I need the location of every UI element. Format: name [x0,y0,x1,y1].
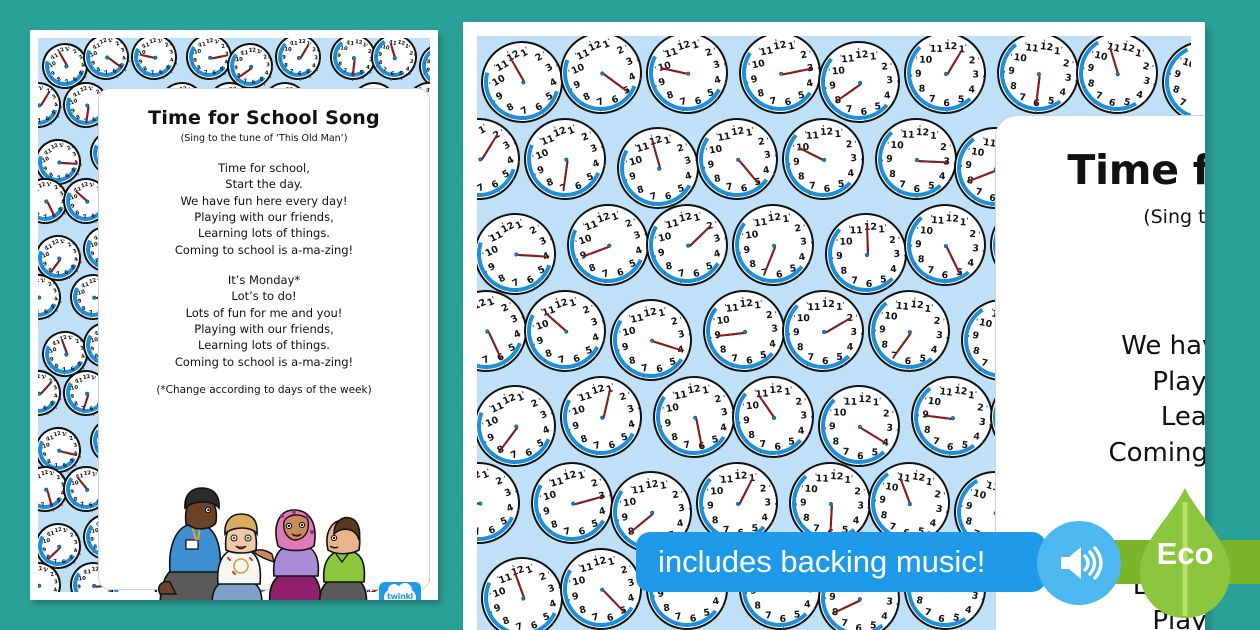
clock-numeral: 4 [541,425,551,436]
clock-tick [795,181,796,183]
clock-tick [76,122,78,124]
clock-numeral: 9 [43,453,48,459]
clock-numeral: 3 [936,331,943,341]
clock-tick [778,454,779,456]
clock-numeral: 1 [834,130,841,140]
clock-tick [80,553,81,555]
clock-numeral: 10 [884,311,898,322]
clock-numeral: 10 [236,58,244,64]
clock-tick [494,64,496,66]
clock-tick [546,448,548,450]
clock-numeral: 10 [571,405,586,418]
clock-numeral: 2 [757,137,765,147]
clock-numeral: 6 [913,185,920,195]
clock-numeral: 5 [958,95,965,105]
clock-tick [73,408,74,410]
clock-numeral: 8 [1171,84,1180,95]
clock-numeral: 8 [38,212,41,218]
clock-numeral: 3 [169,50,174,56]
clock-tick [618,106,620,108]
clock-tick [724,237,725,239]
clock-numeral: 7 [677,269,686,280]
clock-numeral: 10 [42,443,51,450]
clock-numeral: 3 [893,250,900,260]
clock-numeral: 10 [745,230,759,241]
clock-tick [897,429,898,431]
clock-numeral: 6 [775,270,783,280]
clock-tick [888,142,889,144]
clock-tick [76,293,77,295]
clock-tick [317,49,318,51]
clock-tick [568,70,570,72]
clock-tick [93,567,94,569]
clock-numeral: 9 [50,358,55,364]
clock-tick [686,194,688,196]
clock-tick [878,348,879,350]
clock-numeral: 10 [839,237,852,247]
clock-tick [500,129,502,131]
verse-two-small: It’s Monday*Lot’s to do!Lots of fun for … [99,272,429,370]
clock-numeral: 4 [762,165,770,175]
clock-numeral: 4 [53,589,58,592]
clock-face-icon: 123456789101112 [901,201,989,289]
clock-numeral: 1 [1134,49,1143,60]
clock-tick [50,76,52,78]
clock-numeral: 9 [657,248,666,259]
clock-numeral: 10 [978,318,993,330]
clock-numeral: 11 [665,219,680,231]
clock-numeral: 10 [484,245,500,259]
clock-numeral: 7 [104,71,110,77]
clock-tick [681,212,682,214]
clock-center-pin [865,253,869,257]
clock-numeral: 1 [754,301,762,311]
clock-tick [60,301,62,303]
clock-center-pin [85,199,90,204]
clock-numeral: 11 [241,52,249,58]
clock-numeral: 9 [77,300,82,306]
clock-numeral: 8 [917,255,924,265]
clock-numeral: 5 [759,351,767,361]
clock-hand [824,317,851,334]
clock-tick [712,183,713,185]
thumbnail-preview-page[interactable]: 1234567891011121234567891011121234567891… [30,30,438,600]
clock-numeral: 10 [70,195,79,202]
clock-tick [807,364,808,366]
clock-tick [543,51,545,53]
clock-tick [805,131,806,133]
clock-numeral: 6 [774,442,781,452]
clock-numeral: 7 [477,183,486,194]
clock-numeral: 3 [684,156,693,167]
clock-numeral: 4 [627,71,637,82]
clock-numeral: 8 [748,430,755,440]
clock-tick [911,75,912,77]
clock-tick [986,406,987,408]
clock-tick [486,270,488,272]
clock-numeral: 6 [212,71,217,77]
clock-tick [55,407,57,409]
clock-numeral: 11 [673,390,688,402]
clock-center-pin [57,544,62,549]
clock-tick [40,125,42,127]
clock-numeral: 7 [511,278,521,289]
clock-tick [727,194,728,196]
clock-numeral: 6 [664,192,673,203]
clock-numeral: 6 [88,504,92,510]
clock-tick [825,427,826,429]
clock-numeral: 11 [630,314,645,326]
clock-numeral: 1 [959,218,966,228]
clock-numeral: 2 [670,317,678,328]
clock-tick [492,296,494,298]
clock-tick [762,280,763,282]
clock-numeral: 5 [705,262,714,273]
clock-tick [652,204,654,206]
clock-center-pin [1115,72,1120,77]
clock-tick [1142,49,1143,51]
clock-face-icon: 123456789101112 [864,286,954,376]
clock-tick [939,354,940,356]
clock-numeral: 11 [578,391,593,404]
clock-tick [890,362,891,364]
clock-tick [619,331,620,333]
clock-hand [582,245,611,257]
clock-tick [77,271,79,273]
clock-hand [61,162,78,165]
clock-numeral: 5 [584,346,593,357]
clock-hand [860,427,887,444]
clock-tick [751,127,752,129]
clock-numeral: 10 [77,290,86,297]
clock-tick [626,179,628,181]
clock-tick [205,77,206,79]
clock-tick [517,160,519,162]
clock-tick [663,50,665,52]
clock-face-icon: 123456789101112 [602,291,700,389]
clock-center-pin [38,391,42,396]
clock-tick [626,160,628,162]
clock-numeral: 10 [284,48,291,53]
clock-numeral: 11 [1025,44,1039,55]
clock-tick [636,59,638,61]
clock-tick [625,45,627,47]
clock-tick [826,87,827,89]
clock-tick [630,442,632,444]
clock-numeral: 4 [548,77,558,88]
clock-numeral: 7 [243,80,247,86]
clock-numeral: 8 [73,498,77,504]
clock-numeral: 1 [691,41,700,52]
clock-numeral: 7 [53,560,58,566]
clock-tick [41,256,43,258]
clock-tick [55,573,56,575]
clock-numeral: 1 [924,305,931,315]
clock-tick [534,286,536,288]
clock-tick [832,104,833,106]
clock-numeral: 6 [866,280,873,290]
clock-tick [605,281,607,283]
clock-face-icon: 123456789101112 [992,36,1083,119]
clock-numeral: 8 [713,174,721,184]
clock-tick [851,287,852,289]
clock-tick [775,39,776,41]
clock-tick [983,76,984,78]
clock-numeral: 5 [961,441,969,451]
clock-tick [991,206,992,208]
clock-numeral: 12 [767,212,781,223]
clock-numeral: 10 [491,74,507,89]
clock-tick [914,298,915,300]
clock-numeral: 5 [797,91,805,102]
clock-tick [47,533,48,535]
clock-numeral: 9 [42,548,47,554]
figure-teacher [159,488,226,600]
clock-numeral: 7 [807,353,814,362]
clock-numeral: 12 [355,40,363,46]
clock-tick [614,452,616,454]
clock-numeral: 5 [359,71,363,77]
clock-tick [39,183,41,185]
clock-tick [539,398,541,400]
clock-numeral: 7 [89,311,94,317]
figure-girl-hijab [254,510,320,600]
clock-tick [717,354,718,356]
clock-tick [496,455,498,457]
clock-tick [856,351,857,353]
clock-numeral: 8 [197,66,202,72]
clock-tick [86,126,88,128]
clock-tick [64,375,66,377]
clock-hand [738,160,759,185]
clock-tick [65,432,67,434]
clock-numeral: 11 [931,216,945,226]
clock-numeral: 10 [42,253,51,261]
twinkl-logo: twinkl [379,582,421,600]
clock-numeral: 3 [53,386,58,392]
clock-tick [572,124,574,126]
clock-numeral: 9 [750,75,758,86]
clock-tick [618,349,619,351]
clock-numeral: 2 [1062,59,1070,69]
clock-numeral: 7 [679,97,688,108]
clock-tick [934,193,935,195]
clock-tick [808,260,809,262]
clock-tick [901,129,902,131]
clock-hand [488,332,503,360]
clock-numeral: 4 [54,297,59,303]
clock-numeral: 4 [884,91,891,101]
clock-numeral: 5 [71,169,77,175]
clock-numeral: 4 [73,549,78,555]
clock-tick [661,376,662,378]
clock-tick [46,221,48,223]
clock-hand [46,490,52,507]
clock-tick [773,173,774,175]
clock-tick [85,471,86,473]
clock-tick [616,211,618,213]
clock-center-pin [57,160,62,165]
clock-numeral: 4 [968,85,975,95]
clock-numeral: 2 [883,409,890,419]
clock-numeral: 4 [973,432,981,442]
clock-numeral: 7 [41,503,46,509]
clock-tick [74,562,75,564]
clock-numeral: 9 [139,60,144,66]
clock-tick [695,178,697,180]
clock-tick [767,361,768,363]
clock-tick [949,212,950,214]
clock-numeral: 5 [836,353,843,362]
clock-numeral: 4 [122,57,128,63]
clock-tick [553,431,555,433]
clock-numeral: 8 [757,88,765,99]
clock-tick [41,85,43,87]
clock-tick [700,108,702,110]
clock-numeral: 7 [343,69,347,75]
clock-face-icon: 123456789101112 [729,373,818,462]
clock-center-pin [38,583,41,588]
clock-numeral: 10 [194,50,202,57]
clock-numeral: 5 [259,78,263,84]
clock-numeral: 3 [314,57,318,62]
clock-tick [664,307,665,309]
clock-tick [925,366,926,368]
clock-tick [589,132,591,134]
clock-tick [129,60,131,62]
clock-numeral: 11 [635,142,650,155]
clock-numeral: 8 [881,340,888,350]
clock-numeral: 11 [664,47,679,60]
clock-tick [504,364,506,366]
clock-numeral: 9 [621,342,629,353]
clock-numeral: 3 [712,60,721,71]
clock-tick [589,41,591,43]
clock-numeral: 11 [807,303,820,313]
clock-tick [767,138,768,140]
clock-face-icon: 123456789101112 [873,116,958,201]
clock-tick [72,146,74,148]
clock-tick [367,43,368,45]
clock-tick [106,78,108,80]
clock-tick [236,79,237,81]
clock-numeral: 3 [510,314,520,325]
clock-tick [41,457,43,459]
clock-numeral: 4 [405,67,410,73]
clock-numeral: 10 [534,148,550,162]
clock-tick [59,185,61,187]
clock-tick [790,386,791,388]
clock-tick [963,183,964,185]
clock-center-pin [743,330,747,334]
clock-numeral: 7 [38,407,40,413]
clock-tick [916,197,917,199]
clock-numeral: 7 [731,354,739,364]
clock-tick [74,436,76,438]
clock-hand [763,246,776,275]
clock-numeral: 5 [537,265,547,276]
clock-center-pin [64,352,69,357]
clock-numeral: 10 [927,397,941,408]
clock-numeral: 2 [530,398,540,409]
clock-numeral: 6 [904,357,911,367]
clock-tick [978,58,979,60]
clock-hand [689,225,712,248]
clock-tick [849,226,850,228]
clock-face-icon: 123456789101112 [814,37,903,126]
clock-tick [918,415,919,417]
clock-tick [632,95,634,97]
clock-numeral: 2 [1142,62,1151,73]
verse-line: Start the day. [99,176,429,192]
clock-numeral: 7 [843,448,850,458]
clock-numeral: 5 [620,432,629,443]
clock-numeral: 4 [713,75,722,86]
clock-numeral: 7 [846,105,853,115]
clock-numeral: 6 [746,356,754,366]
clock-numeral: 8 [378,61,383,67]
clock-tick [556,64,558,66]
clock-tick [71,335,73,337]
clock-numeral: 7 [204,71,209,77]
clock-numeral: 2 [70,533,75,539]
clock-numeral: 7 [151,71,156,77]
clock-tick [825,369,826,371]
clock-numeral: 4 [930,345,937,355]
clock-face-icon: 123456789101112 [698,286,789,377]
clock-tick [48,316,50,318]
clock-center-pin [607,243,612,248]
clock-tick [964,106,965,108]
clock-tick [742,297,743,299]
clock-tick [723,63,725,65]
clock-tick [95,472,96,474]
clock-tick [713,318,714,320]
clock-tick [1110,110,1111,112]
clock-numeral: 12 [820,127,834,137]
clock-tick [891,447,892,449]
clock-tick [525,118,527,120]
clock-tick [796,448,797,450]
clock-numeral: 12 [821,300,834,310]
clock-numeral: 5 [880,275,887,285]
clock-tick [69,399,70,401]
clock-numeral: 3 [720,408,728,419]
clock-tick [512,178,514,180]
clock-numeral: 5 [398,72,403,78]
clock-tick [797,275,798,277]
clock-tick [563,195,565,197]
clock-tick [66,528,67,530]
clock-numeral: 7 [932,437,940,447]
clock-numeral: 8 [545,177,555,188]
clock-tick [594,355,596,357]
clock-numeral: 3 [626,404,635,415]
clock-hand [918,160,948,163]
clock-numeral: 4 [591,158,601,169]
clock-numeral: 3 [850,154,857,164]
clock-tick [65,567,66,569]
clock-tick [862,392,863,394]
clock-numeral: 10 [535,319,550,332]
clock-tick [125,69,127,71]
clock-tick [69,483,70,485]
clock-numeral: 2 [69,437,74,443]
clock-tick [41,161,43,163]
clock-numeral: 2 [263,56,267,62]
verse-line: Lots of fun for me and you! [99,305,429,321]
clock-tick [218,39,219,41]
